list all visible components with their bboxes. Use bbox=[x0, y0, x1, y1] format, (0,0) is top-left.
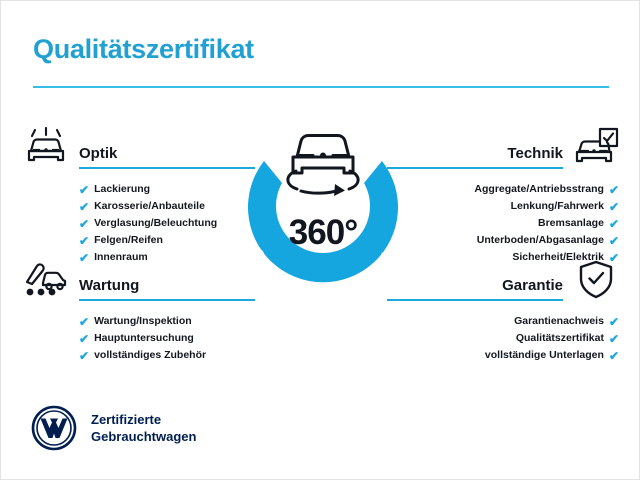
list-item-label: Karosserie/Anbauteile bbox=[94, 198, 205, 215]
badge-360-gebrauchtwagen-check: Gebrauchtwagen-Check 360° bbox=[223, 113, 423, 333]
shield-check-icon bbox=[573, 259, 619, 301]
vw-roundel-logo bbox=[31, 405, 77, 451]
list-item-label: vollständige Unterlagen bbox=[485, 347, 604, 364]
footer-text: Zertifizierte Gebrauchtwagen bbox=[91, 411, 196, 445]
list-item-label: Verglasung/Beleuchtung bbox=[94, 215, 217, 232]
badge-degrees-label: 360° bbox=[223, 213, 423, 253]
check-icon: ✔ bbox=[609, 316, 619, 328]
list-item-label: vollständiges Zubehör bbox=[94, 347, 206, 364]
check-icon: ✔ bbox=[609, 218, 619, 230]
page-title: Qualitätszertifikat bbox=[33, 34, 254, 65]
check-icon: ✔ bbox=[609, 333, 619, 345]
list-item-label: Aggregate/Antriebsstrang bbox=[474, 181, 604, 198]
certificate-page: Qualitätszertifikat bbox=[0, 0, 640, 480]
list-item-label: Hauptuntersuchung bbox=[94, 330, 194, 347]
section-optik: Optik ✔Lackierung ✔Karosserie/Anbauteile… bbox=[23, 127, 255, 266]
check-icon: ✔ bbox=[79, 201, 89, 213]
check-icon: ✔ bbox=[79, 235, 89, 247]
list-item-label: Lackierung bbox=[94, 181, 150, 198]
vw-footer-lockup: Zertifizierte Gebrauchtwagen bbox=[31, 405, 196, 451]
section-optik-header: Optik bbox=[23, 127, 255, 171]
list-item-label: Wartung/Inspektion bbox=[94, 313, 192, 330]
car-checkbox-icon bbox=[573, 127, 619, 169]
check-icon: ✔ bbox=[79, 218, 89, 230]
list-item: ✔vollständiges Zubehör bbox=[79, 347, 255, 364]
footer-line-1: Zertifizierte bbox=[91, 411, 196, 428]
check-icon: ✔ bbox=[609, 235, 619, 247]
check-icon: ✔ bbox=[609, 184, 619, 196]
list-item-label: Felgen/Reifen bbox=[94, 232, 163, 249]
check-icon: ✔ bbox=[79, 350, 89, 362]
header-divider bbox=[33, 86, 609, 88]
section-wartung-header: Wartung bbox=[23, 259, 255, 303]
list-item-label: Garantienachweis bbox=[514, 313, 604, 330]
list-item: vollständige Unterlagen✔ bbox=[387, 347, 619, 364]
check-icon: ✔ bbox=[79, 333, 89, 345]
check-icon: ✔ bbox=[79, 184, 89, 196]
check-icon: ✔ bbox=[609, 201, 619, 213]
car-lift-wrench-icon bbox=[23, 259, 69, 301]
list-item-label: Bremsanlage bbox=[538, 215, 604, 232]
list-item-label: Lenkung/Fahrwerk bbox=[511, 198, 604, 215]
check-icon: ✔ bbox=[79, 316, 89, 328]
check-icon: ✔ bbox=[609, 350, 619, 362]
list-item-label: Unterboden/Abgasanlage bbox=[477, 232, 604, 249]
footer-line-2: Gebrauchtwagen bbox=[91, 428, 196, 445]
section-wartung: Wartung ✔Wartung/Inspektion ✔Hauptunters… bbox=[23, 259, 255, 364]
list-item-label: Qualitätszertifikat bbox=[516, 330, 604, 347]
car-360-rotate-icon bbox=[288, 136, 358, 197]
car-shine-icon bbox=[23, 127, 69, 169]
